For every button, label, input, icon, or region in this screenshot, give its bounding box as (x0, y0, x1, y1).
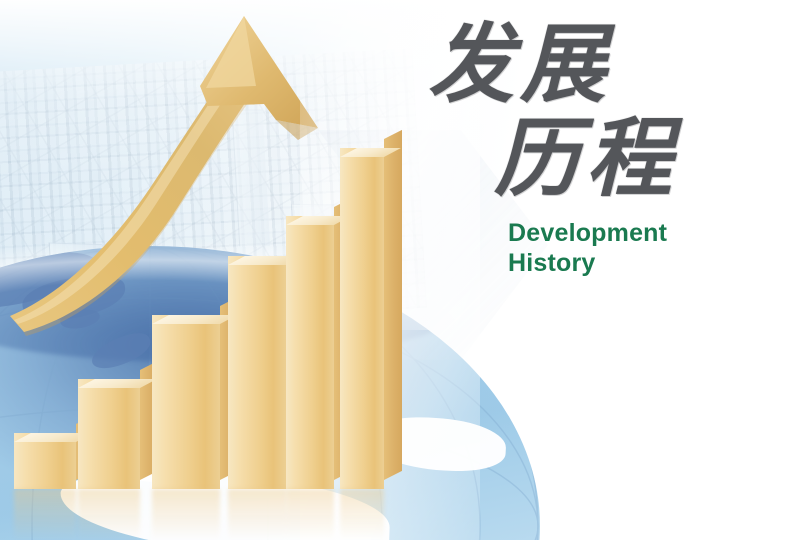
chart-bar (228, 256, 286, 489)
chart-bar-reflection (152, 489, 220, 540)
chart-bar-front (152, 315, 220, 489)
chart-bar (340, 148, 384, 489)
landmass-britain (87, 327, 154, 374)
globe-gridlines (0, 246, 540, 540)
chart-bar (78, 379, 140, 489)
chart-bar-front (78, 379, 140, 489)
chart-bar-side (384, 130, 402, 480)
city-tower (102, 261, 134, 351)
chart-bar-top (340, 148, 401, 157)
chart-bar (152, 315, 220, 489)
landmass-iberia (110, 431, 205, 485)
title-block: 发展 历程 Development History (424, 22, 724, 278)
landmass-anatolia (365, 414, 508, 473)
title-cjk-line1: 发展 (428, 22, 724, 108)
development-history-banner: 发展 历程 Development History (0, 0, 800, 540)
landmass-sardinia (192, 442, 216, 464)
landmass-scandinavia (0, 246, 103, 319)
chart-bar-top (286, 216, 351, 225)
landmass-north-europe (20, 271, 129, 325)
chart-bar-top (152, 315, 237, 324)
chart-bar-reflection (286, 489, 334, 540)
chart-bar (286, 216, 334, 489)
title-en-line2: History (508, 248, 724, 278)
chart-bar-side (220, 297, 238, 480)
landmass-central-europe (117, 365, 252, 436)
city-tower (49, 242, 108, 353)
landmass-balkans (278, 394, 392, 460)
city-tower (291, 204, 338, 315)
chart-bar-front (228, 256, 286, 489)
chart-bar-front (286, 216, 334, 489)
title-cjk-line2: 历程 (494, 116, 724, 202)
globe-sphere (0, 246, 540, 540)
chart-bar-top (78, 379, 157, 388)
chart-bar-reflection (14, 489, 76, 540)
chart-bar-front (14, 433, 76, 489)
chart-bar-reflection (340, 489, 384, 540)
globe-graphic (0, 246, 540, 540)
title-en-line1: Development (508, 218, 724, 248)
city-tower (232, 109, 271, 246)
chart-bar (14, 433, 76, 489)
chart-bar-reflection (78, 489, 140, 540)
chart-bar-front (340, 148, 384, 489)
landmass-iceland (59, 307, 102, 332)
chart-bar-side (286, 238, 304, 480)
chart-bar-top (228, 256, 303, 265)
chart-bar-reflection (228, 489, 286, 540)
chart-bar-side (334, 198, 352, 480)
chart-bar-side (140, 361, 158, 480)
chart-bar-side (76, 415, 94, 480)
chart-bar-top (14, 433, 93, 442)
northern-ocean-shading (0, 246, 470, 362)
landmass-north-africa (59, 468, 392, 540)
cityscape-photo (0, 48, 427, 332)
landmass-italy (243, 410, 302, 492)
rising-arrow-icon (0, 0, 400, 360)
